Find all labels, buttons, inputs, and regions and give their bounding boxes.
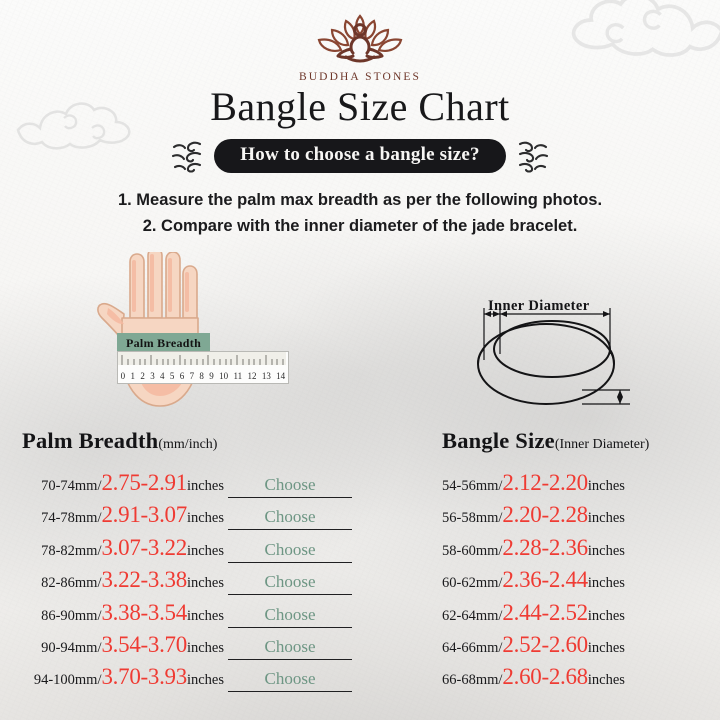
subtitle-pill: How to choose a bangle size? (214, 139, 505, 173)
palm-inch: 3.22-3.38 (101, 567, 186, 593)
bangle-mm: 62-64mm/ (442, 608, 502, 625)
palm-breadth-table: Palm Breadth(mm/inch) 70-74mm/2.75-2.91i… (22, 428, 352, 697)
bangle-unit: inches (588, 608, 625, 625)
palm-mm: 74-78mm/ (41, 510, 101, 527)
table-row: 90-94mm/3.54-3.70inches Choose (22, 632, 352, 664)
bangle-mm: 60-62mm/ (442, 575, 502, 592)
ruler-numbers: 0 1 2 3 4 5 6 7 8 9 10 11 12 13 14 (118, 371, 288, 381)
palm-inch: 2.75-2.91 (101, 470, 186, 496)
choose-cell[interactable]: Choose (228, 605, 352, 628)
flourish-ornament-icon (170, 138, 204, 174)
bangle-unit: inches (588, 543, 625, 560)
palm-unit: inches (187, 608, 224, 625)
palm-mm: 82-86mm/ (41, 575, 101, 592)
choose-underline (228, 594, 352, 595)
palm-unit: inches (187, 575, 224, 592)
bangle-mm: 66-68mm/ (442, 672, 502, 689)
bangle-size-header: Bangle Size(Inner Diameter) (442, 428, 710, 454)
table-row: 64-66mm/2.52-2.60inches (442, 632, 710, 664)
ruler-tick: 8 (199, 371, 204, 381)
ruler-tick: 1 (131, 371, 136, 381)
choose-cell[interactable]: Choose (228, 637, 352, 660)
table-row: 74-78mm/2.91-3.07inches Choose (22, 502, 352, 534)
palm-measure: 90-94mm/3.54-3.70inches (41, 632, 224, 658)
choose-cell[interactable]: Choose (228, 540, 352, 563)
table-row: 86-90mm/3.38-3.54inches Choose (22, 600, 352, 632)
ruler-tick: 2 (140, 371, 145, 381)
palm-inch: 3.38-3.54 (101, 600, 186, 626)
palm-measure: 94-100mm/3.70-3.93inches (34, 664, 224, 690)
palm-mm: 70-74mm/ (41, 478, 101, 495)
bangle-inch: 2.28-2.36 (502, 535, 587, 561)
choose-cell[interactable]: Choose (228, 507, 352, 530)
choose-link[interactable]: Choose (265, 475, 316, 498)
ruler-tick: 9 (209, 371, 214, 381)
table-row: 66-68mm/2.60-2.68inches (442, 664, 710, 696)
table-row: 62-64mm/2.44-2.52inches (442, 600, 710, 632)
bangle-illustration (462, 292, 642, 425)
table-row: 56-58mm/2.20-2.28inches (442, 502, 710, 534)
palm-inch: 3.54-3.70 (101, 632, 186, 658)
open-palm-hand-icon (62, 252, 252, 412)
table-row: 82-86mm/3.22-3.38inches Choose (22, 567, 352, 599)
table-row: 58-60mm/2.28-2.36inches (442, 535, 710, 567)
bangle-unit: inches (588, 478, 625, 495)
bangle-unit: inches (588, 640, 625, 657)
choose-link[interactable]: Choose (265, 507, 316, 530)
bangle-size-header-main: Bangle Size (442, 428, 555, 453)
instruction-step-1: 1. Measure the palm max breadth as per t… (0, 188, 720, 214)
palm-measure: 86-90mm/3.38-3.54inches (41, 600, 224, 626)
palm-measure: 78-82mm/3.07-3.22inches (41, 535, 224, 561)
brand-logo: BUDDHA STONES (0, 8, 720, 83)
ruler-tick: 6 (180, 371, 185, 381)
instruction-step-2: 2. Compare with the inner diameter of th… (0, 214, 720, 240)
table-row: 54-56mm/2.12-2.20inches (442, 470, 710, 502)
bangle-inch: 2.12-2.20 (502, 470, 587, 496)
ruler-tick: 7 (190, 371, 195, 381)
ruler-tick: 4 (160, 371, 165, 381)
bangle-inch: 2.44-2.52 (502, 600, 587, 626)
page-title: Bangle Size Chart (0, 83, 720, 130)
bangle-inch: 2.20-2.28 (502, 502, 587, 528)
palm-unit: inches (187, 543, 224, 560)
palm-inch: 3.70-3.93 (101, 664, 186, 690)
bangle-mm: 54-56mm/ (442, 478, 502, 495)
palm-breadth-header-sub: (mm/inch) (158, 437, 217, 452)
palm-measure: 82-86mm/3.22-3.38inches (41, 567, 224, 593)
table-row: 70-74mm/2.75-2.91inches Choose (22, 470, 352, 502)
bangle-size-rows: 54-56mm/2.12-2.20inches 56-58mm/2.20-2.2… (442, 470, 710, 697)
palm-measure: 70-74mm/2.75-2.91inches (41, 470, 224, 496)
ruler-tick: 10 (219, 371, 228, 381)
lotus-meditation-icon (301, 8, 419, 70)
choose-link[interactable]: Choose (265, 605, 316, 628)
choose-cell[interactable]: Choose (228, 669, 352, 692)
palm-unit: inches (187, 672, 224, 689)
choose-link[interactable]: Choose (265, 572, 316, 595)
choose-underline (228, 627, 352, 628)
choose-underline (228, 529, 352, 530)
choose-link[interactable]: Choose (265, 637, 316, 660)
ruler-ticks-icon (118, 352, 286, 365)
choose-underline (228, 691, 352, 692)
ruler-tick: 14 (276, 371, 285, 381)
palm-breadth-header: Palm Breadth(mm/inch) (22, 428, 352, 454)
palm-inch: 3.07-3.22 (101, 535, 186, 561)
choose-link[interactable]: Choose (265, 540, 316, 563)
bangle-size-header-sub: (Inner Diameter) (555, 437, 649, 452)
bangle-unit: inches (588, 575, 625, 592)
bangle-mm: 64-66mm/ (442, 640, 502, 657)
ruler-tick: 13 (262, 371, 271, 381)
table-row: 78-82mm/3.07-3.22inches Choose (22, 535, 352, 567)
palm-mm: 94-100mm/ (34, 672, 102, 689)
ruler-tick: 0 (121, 371, 126, 381)
palm-mm: 78-82mm/ (41, 543, 101, 560)
bangle-ring-icon (462, 292, 642, 420)
palm-breadth-header-main: Palm Breadth (22, 428, 158, 453)
palm-mm: 90-94mm/ (41, 640, 101, 657)
size-chart-page: BUDDHA STONES Bangle Size Chart How to c… (0, 0, 720, 720)
palm-unit: inches (187, 510, 224, 527)
palm-mm: 86-90mm/ (41, 608, 101, 625)
bangle-unit: inches (588, 672, 625, 689)
palm-inch: 2.91-3.07 (101, 502, 186, 528)
ruler-tick: 11 (233, 371, 242, 381)
bangle-inch: 2.36-2.44 (502, 567, 587, 593)
table-row: 60-62mm/2.36-2.44inches (442, 567, 710, 599)
choose-underline (228, 562, 352, 563)
subtitle-row: How to choose a bangle size? (0, 138, 720, 174)
choose-cell[interactable]: Choose (228, 572, 352, 595)
palm-measure: 74-78mm/2.91-3.07inches (41, 502, 224, 528)
flourish-ornament-icon (516, 138, 550, 174)
bangle-unit: inches (588, 510, 625, 527)
bangle-size-table: Bangle Size(Inner Diameter) 54-56mm/2.12… (442, 428, 710, 697)
choose-underline (228, 497, 352, 498)
table-row: 94-100mm/3.70-3.93inches Choose (22, 664, 352, 696)
ruler-graphic: 0 1 2 3 4 5 6 7 8 9 10 11 12 13 14 (117, 351, 289, 384)
ruler-tick: 3 (150, 371, 155, 381)
palm-unit: inches (187, 640, 224, 657)
ruler-tick: 5 (170, 371, 175, 381)
bangle-mm: 58-60mm/ (442, 543, 502, 560)
choose-link[interactable]: Choose (265, 669, 316, 692)
brand-name: BUDDHA STONES (299, 71, 421, 83)
ruler-tick: 12 (247, 371, 256, 381)
bangle-inch: 2.52-2.60 (502, 632, 587, 658)
choose-underline (228, 659, 352, 660)
bangle-inch: 2.60-2.68 (502, 664, 587, 690)
instruction-steps: 1. Measure the palm max breadth as per t… (0, 188, 720, 239)
bangle-mm: 56-58mm/ (442, 510, 502, 527)
palm-breadth-rows: 70-74mm/2.75-2.91inches Choose 74-78mm/2… (22, 470, 352, 697)
palm-unit: inches (187, 478, 224, 495)
choose-cell[interactable]: Choose (228, 475, 352, 498)
